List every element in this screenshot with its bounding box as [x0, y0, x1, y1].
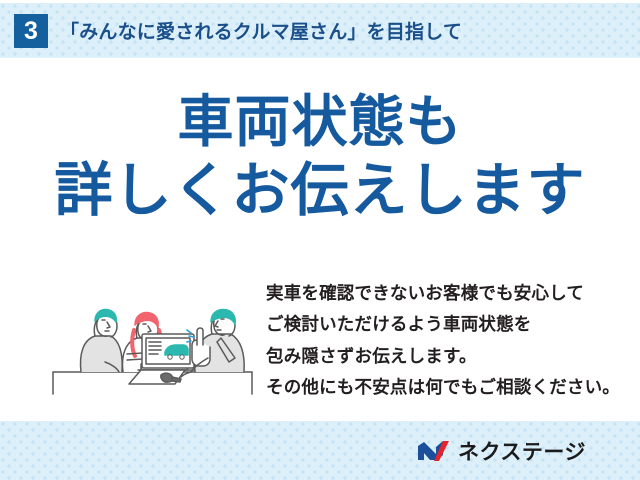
header-title: 「みんなに愛されるクルマ屋さん」を目指して — [60, 17, 462, 44]
headline-block: 車両状態も 詳しくお伝えします — [0, 88, 640, 227]
step-number-badge: 3 — [14, 14, 48, 48]
banner-header: 3 「みんなに愛されるクルマ屋さん」を目指して — [0, 3, 640, 58]
consultation-illustration — [45, 272, 260, 397]
body-copy: 実車を確認できないお客様でも安心して ご検討いただけるよう車両状態を 包み隠さず… — [266, 272, 620, 403]
promotional-banner: 3 「みんなに愛されるクルマ屋さん」を目指して 車両状態も 詳しくお伝えします — [0, 0, 640, 480]
nextage-logo: ネクステージ — [417, 436, 586, 466]
body-copy-line-2: ご検討いただけるよう車両状態を — [266, 309, 620, 340]
banner-footer: ネクステージ — [0, 421, 640, 480]
body-copy-line-3: 包み隠さずお伝えします。 — [266, 341, 620, 372]
body-copy-line-1: 実車を確認できないお客様でも安心して — [266, 278, 620, 309]
lower-content: 実車を確認できないお客様でも安心して ご検討いただけるよう車両状態を 包み隠さず… — [0, 272, 640, 412]
nextage-brand-text: ネクステージ — [458, 436, 586, 466]
headline-line-1: 車両状態も — [0, 88, 640, 156]
headline-line-2: 詳しくお伝えします — [0, 156, 640, 227]
body-copy-line-4: その他にも不安点は何でもご相談ください。 — [266, 372, 620, 403]
nextage-n-logo-icon — [417, 439, 451, 463]
